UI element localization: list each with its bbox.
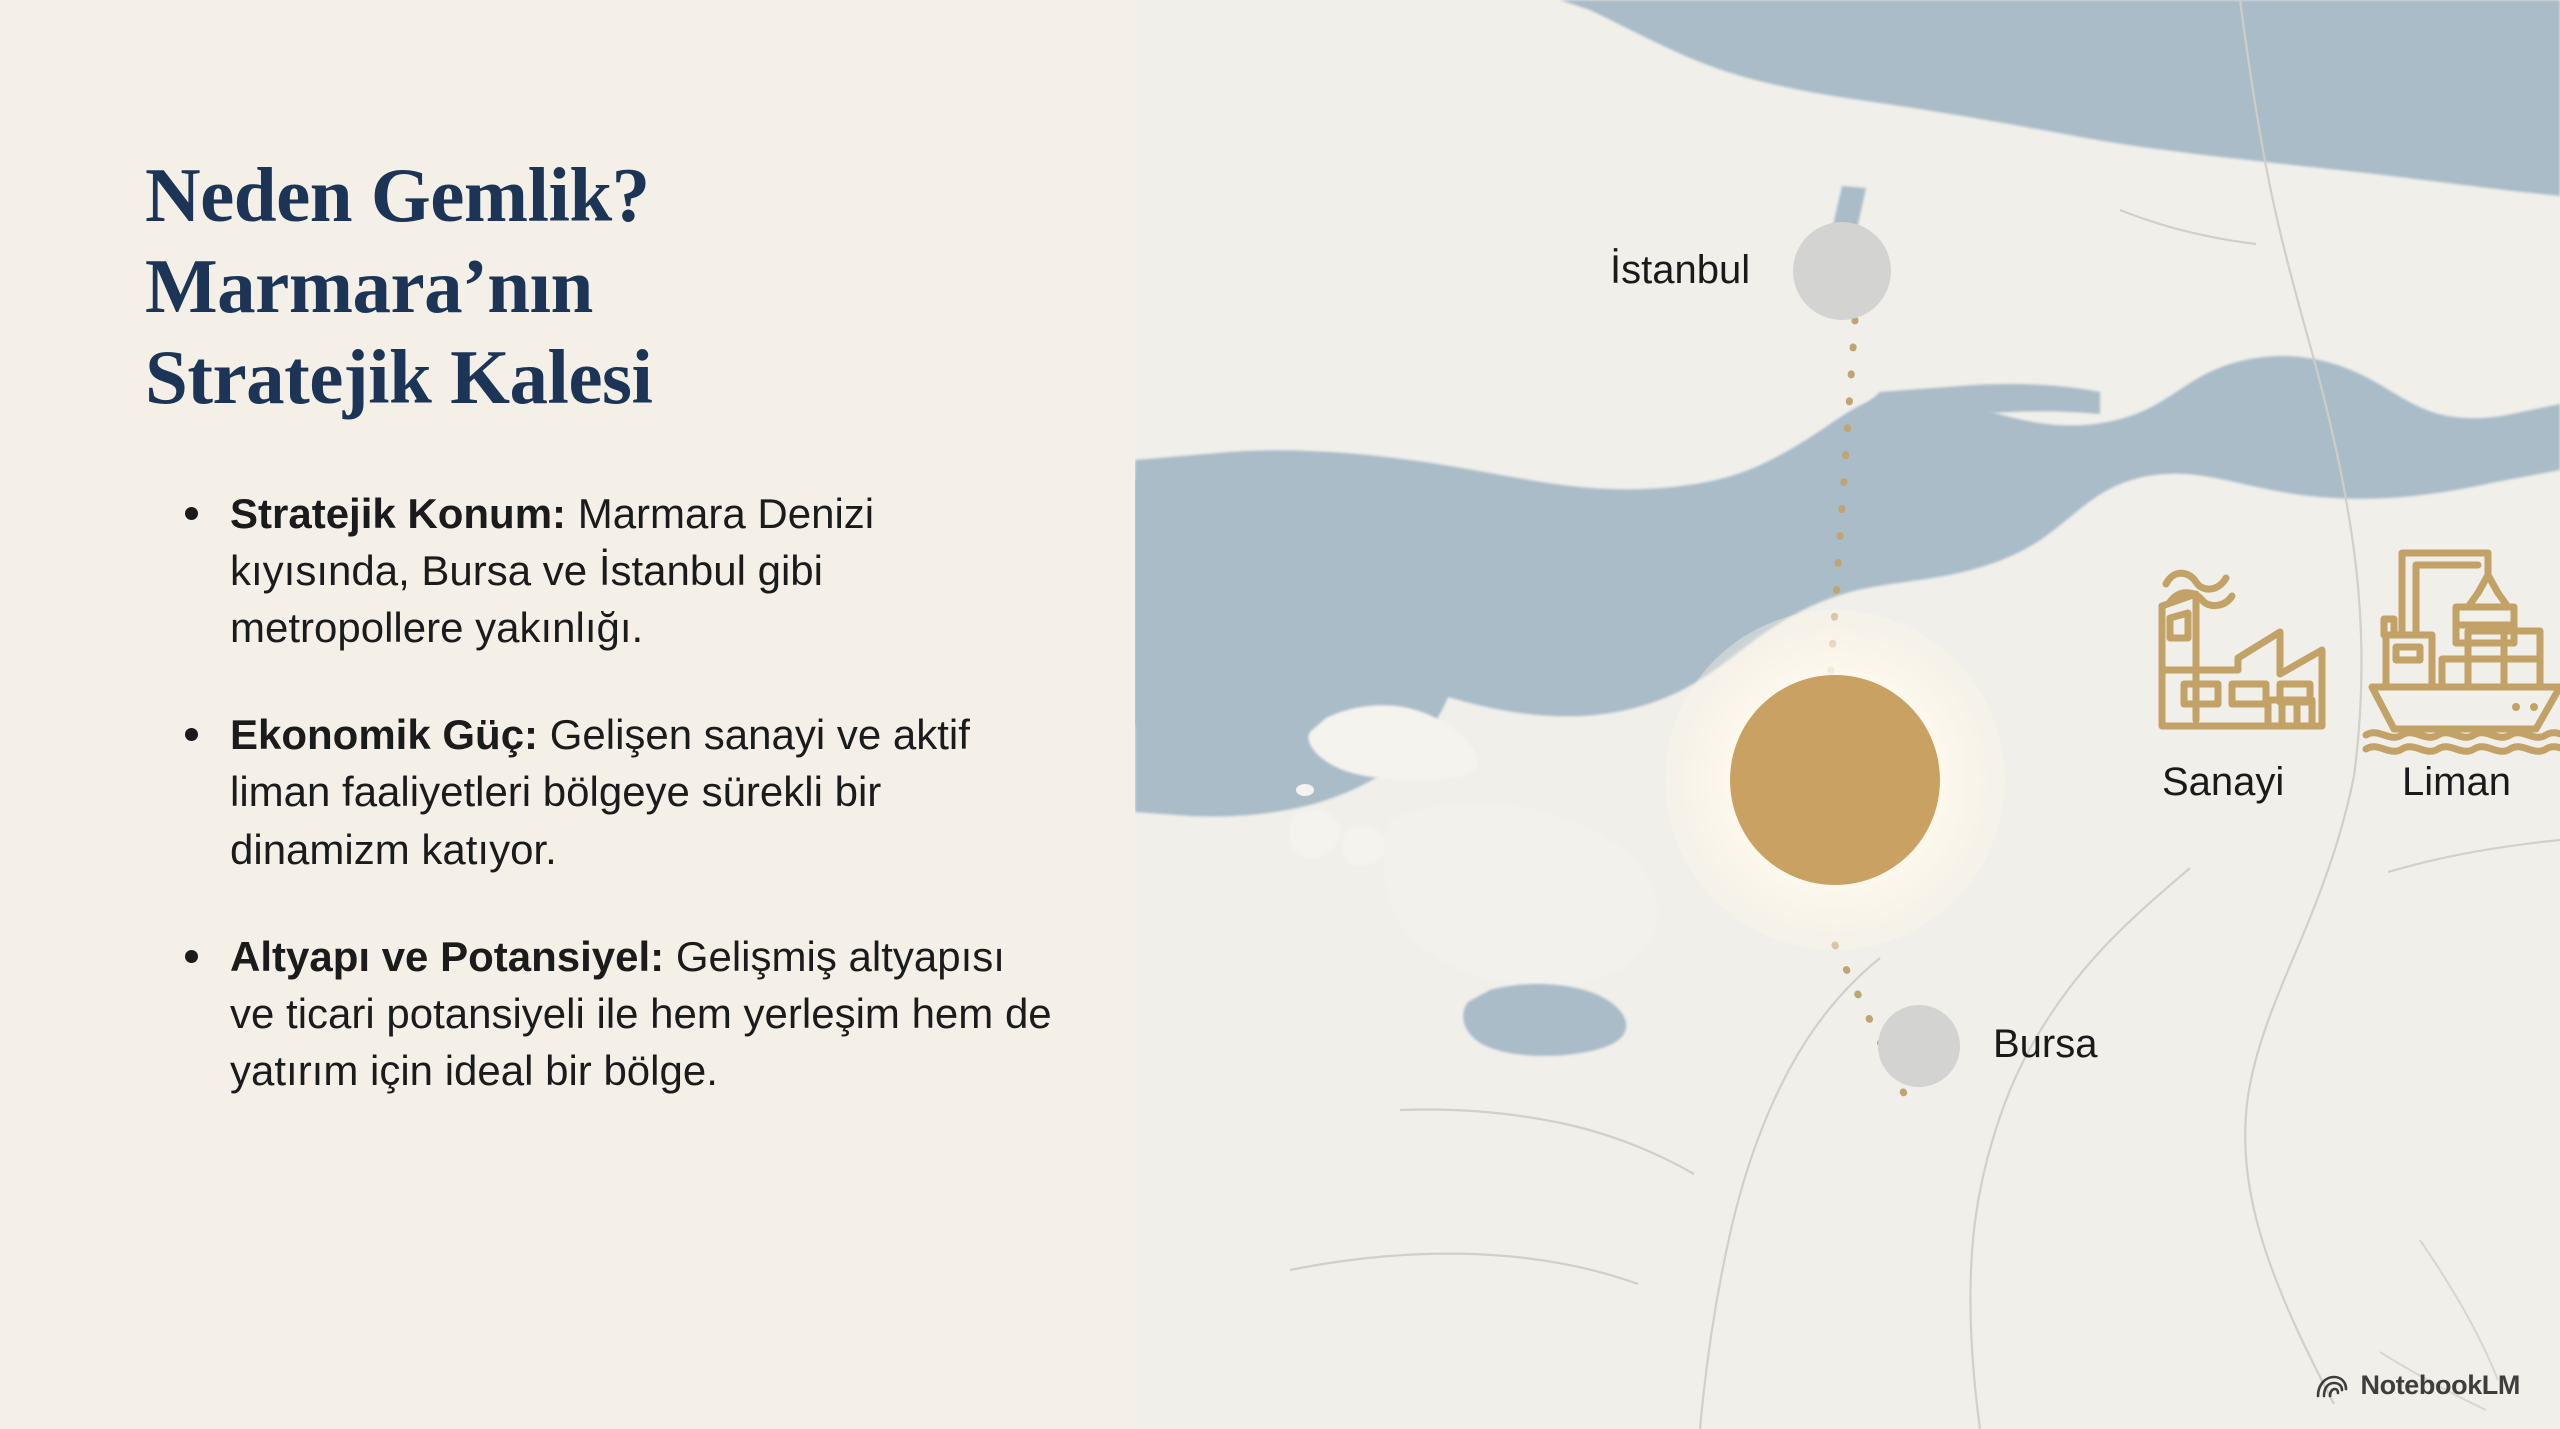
notebooklm-logo-icon <box>2315 1373 2349 1399</box>
marker-bursa[interactable] <box>1878 1005 1960 1087</box>
icon-caption-liman: Liman <box>2402 760 2511 805</box>
icon-caption-sanayi: Sanayi <box>2162 760 2284 805</box>
marker-gemlik[interactable] <box>1730 675 1940 885</box>
notebooklm-watermark: NotebookLM <box>2315 1370 2520 1401</box>
marker-istanbul[interactable] <box>1793 222 1891 320</box>
page-title-line-2: Stratejik Kalesi <box>145 332 1025 423</box>
page-title: Neden Gemlik? Marmara’nın Stratejik Kale… <box>145 150 1025 423</box>
page-title-line-1: Neden Gemlik? Marmara’nın <box>145 150 1025 332</box>
bullet-item-strategic-location: Stratejik Konum: Marmara Denizi kıyısınd… <box>175 485 1055 656</box>
map-panel: İstanbul Bursa <box>1135 0 2560 1429</box>
bullet-item-economic-power: Ekonomik Güç: Gelişen sanayi ve aktif li… <box>175 706 1055 877</box>
port-ship-icon <box>2360 535 2560 760</box>
map-label-istanbul: İstanbul <box>1610 248 1750 293</box>
content-panel: Neden Gemlik? Marmara’nın Stratejik Kale… <box>0 0 1135 1429</box>
slide-root: İstanbul Bursa <box>0 0 2560 1429</box>
factory-icon <box>2140 540 2330 750</box>
bullet-dot-icon <box>185 950 198 963</box>
watermark-label: NotebookLM <box>2361 1370 2520 1401</box>
map-label-bursa: Bursa <box>1993 1022 2098 1067</box>
bullet-dot-icon <box>185 507 198 520</box>
bullet-lead-label: Stratejik Konum: <box>230 490 566 537</box>
bullet-dot-icon <box>185 728 198 741</box>
bullet-list: Stratejik Konum: Marmara Denizi kıyısınd… <box>175 485 1055 1149</box>
bullet-item-infrastructure-potential: Altyapı ve Potansiyel: Gelişmiş altyapıs… <box>175 928 1055 1099</box>
bullet-lead-label: Altyapı ve Potansiyel: <box>230 933 664 980</box>
bullet-lead-label: Ekonomik Güç: <box>230 711 538 758</box>
